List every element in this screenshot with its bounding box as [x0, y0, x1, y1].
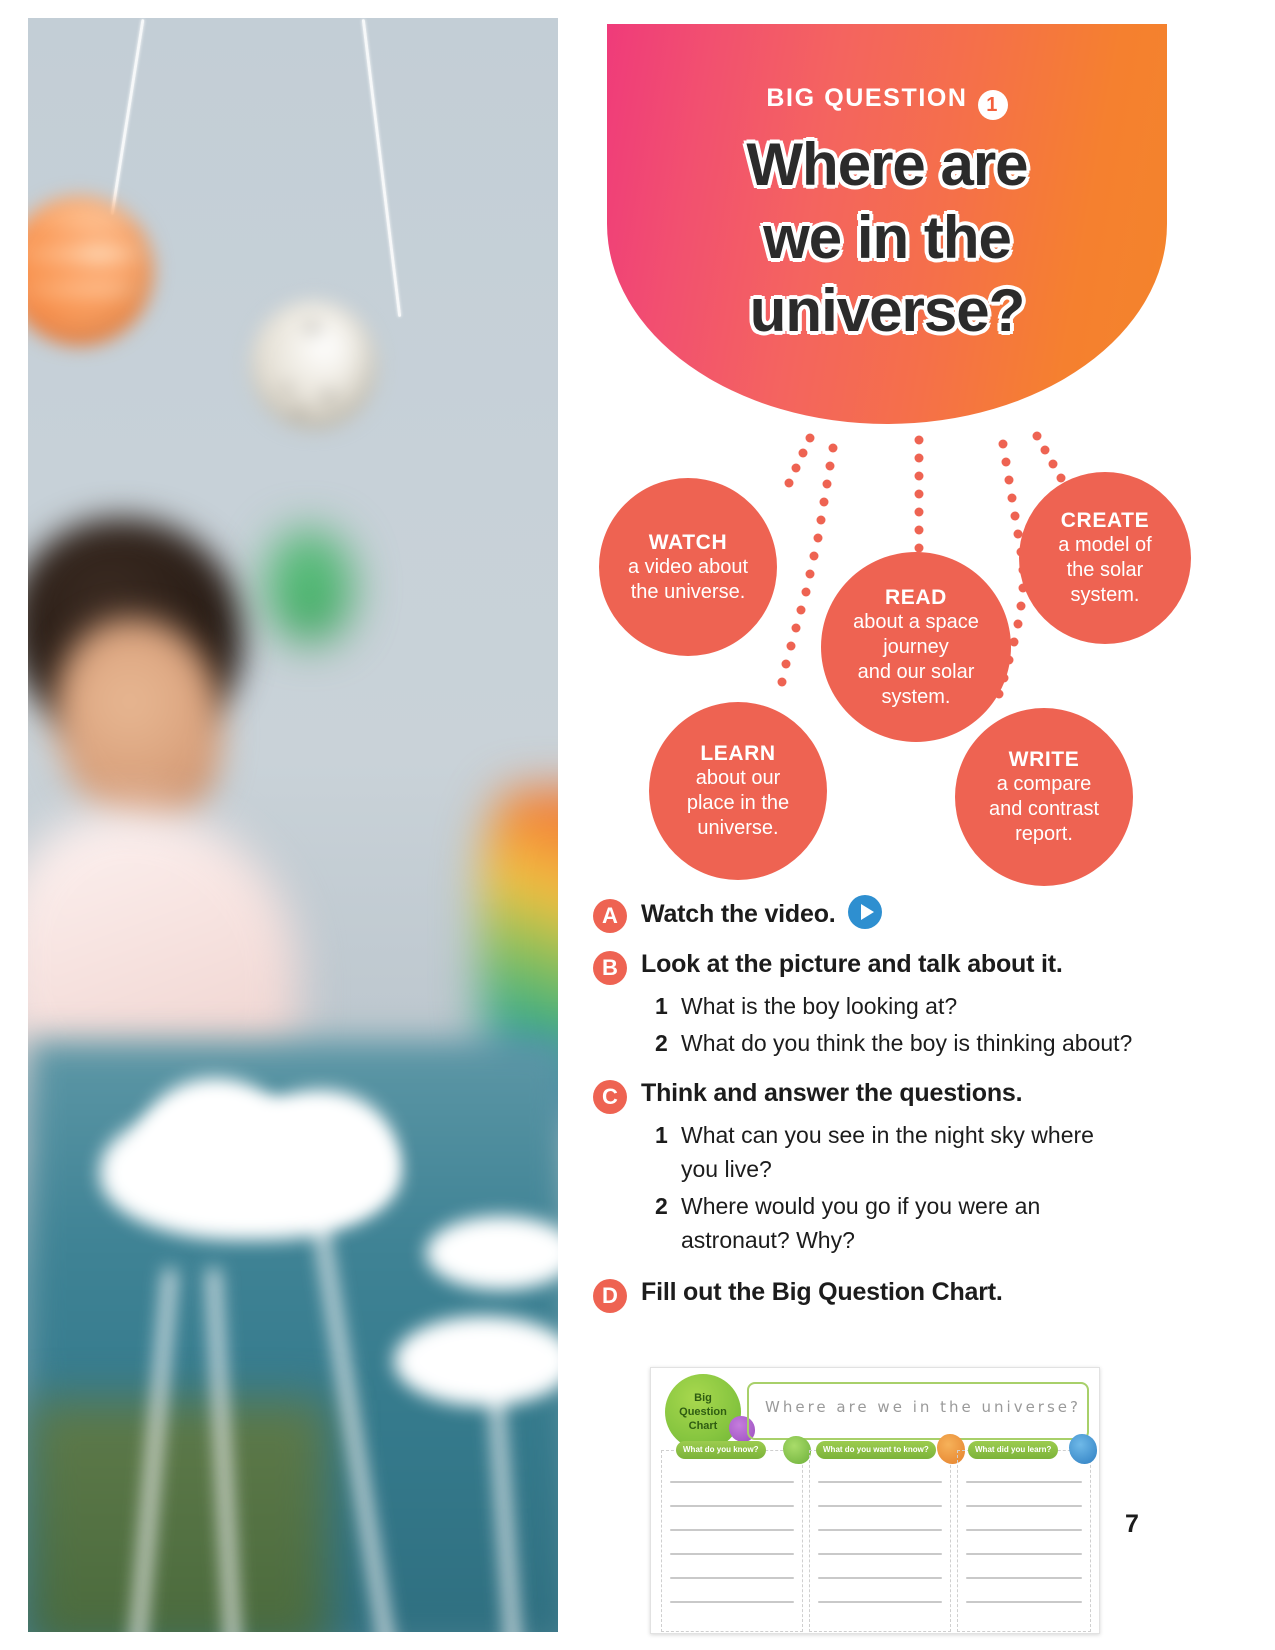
play-icon[interactable] [848, 895, 882, 929]
wall-decoration [266, 530, 352, 642]
question-text: What can you see in the night sky where … [681, 1118, 1136, 1186]
activity-list: A Watch the video. B Look at the picture… [593, 895, 1193, 1317]
unit-bubble-verb: WATCH [649, 530, 727, 555]
activity-d: D Fill out the Big Question Chart. [593, 1275, 1193, 1313]
activity-badge-d: D [593, 1279, 627, 1313]
unit-bubble-write: WRITE a compare and contrast report. [955, 708, 1133, 886]
page-title-line-2: we in the [607, 201, 1167, 274]
unit-bubble-verb: WRITE [1009, 747, 1080, 772]
activity-d-heading: Fill out the Big Question Chart. [641, 1275, 1193, 1309]
big-question-eyebrow-text: BIG QUESTION [766, 84, 967, 112]
moon-model [250, 300, 378, 430]
activity-badge-a: A [593, 899, 627, 933]
page-title-line-1: Where are [607, 128, 1167, 201]
unit-bubble-text: a compare and contrast report. [989, 772, 1099, 847]
unit-bubble-learn: LEARN about our place in the universe. [649, 702, 827, 880]
blue-monster-icon [1069, 1434, 1097, 1464]
activity-b: B Look at the picture and talk about it. [593, 947, 1193, 985]
activity-b-questions: 1 What is the boy looking at? 2 What do … [655, 989, 1193, 1060]
unit-bubble-read: READ about a space journey and our solar… [821, 552, 1011, 742]
unit-bubble-verb: LEARN [700, 741, 775, 766]
question-number: 1 [655, 1118, 681, 1186]
list-item: 2 Where would you go if you were an astr… [655, 1189, 1193, 1257]
lesson-photo [28, 18, 558, 1632]
green-monster-icon [783, 1436, 811, 1464]
list-item: 1 What is the boy looking at? [655, 989, 1193, 1023]
big-question-chart-question-box[interactable]: Where are we in the universe? [747, 1382, 1089, 1440]
activity-b-heading: Look at the picture and talk about it. [641, 947, 1193, 981]
big-question-chart-logo-text: Big Question Chart [679, 1391, 727, 1433]
activity-badge-b: B [593, 951, 627, 985]
big-question-hero: BIG QUESTION1 Where are we in the univer… [607, 24, 1167, 424]
big-question-chart-logo: Big Question Chart [665, 1374, 741, 1450]
activity-a-heading-text: Watch the video. [641, 900, 836, 928]
activity-badge-c: C [593, 1080, 627, 1114]
question-number: 2 [655, 1189, 681, 1257]
chart-column-learn: What did you learn? [957, 1450, 1091, 1632]
unit-bubble-text: about our place in the universe. [687, 766, 789, 841]
activity-d-heading-bold: Big Question Chart. [772, 1278, 1003, 1306]
activity-c: C Think and answer the questions. [593, 1076, 1193, 1114]
page-number: 7 [1125, 1510, 1139, 1539]
activity-c-heading: Think and answer the questions. [641, 1076, 1193, 1110]
big-question-number-badge: 1 [978, 90, 1008, 120]
list-item: 1 What can you see in the night sky wher… [655, 1118, 1193, 1186]
question-number: 1 [655, 989, 681, 1023]
lesson-content: BIG QUESTION1 Where are we in the univer… [585, 0, 1225, 1650]
unit-bubble-verb: READ [885, 585, 947, 610]
question-text: Where would you go if you were an astron… [681, 1189, 1081, 1257]
unit-bubble-text: about a space journey and our solar syst… [853, 610, 979, 710]
chart-column-label: What did you learn? [968, 1441, 1058, 1459]
grass-area [28, 1400, 328, 1632]
chart-column-label: What do you want to know? [816, 1441, 936, 1459]
question-text: What do you think the boy is thinking ab… [681, 1026, 1132, 1060]
activity-a-heading: Watch the video. [641, 895, 882, 931]
page-title-line-3: universe? [607, 274, 1167, 347]
chart-column-know: What do you know? [661, 1450, 803, 1632]
page-title: Where are we in the universe? [607, 128, 1167, 347]
cloud-cutout [246, 1090, 396, 1218]
unit-bubble-text: a video about the universe. [628, 555, 748, 605]
question-text: What is the boy looking at? [681, 989, 957, 1023]
chart-column-label: What do you know? [676, 1441, 766, 1459]
big-question-chart-question-text: Where are we in the universe? [765, 1398, 1081, 1416]
unit-bubble-text: a model of the solar system. [1058, 533, 1151, 608]
list-item: 2 What do you think the boy is thinking … [655, 1026, 1193, 1060]
unit-bubble-verb: CREATE [1061, 508, 1149, 533]
question-number: 2 [655, 1026, 681, 1060]
big-question-chart-thumbnail[interactable]: Big Question Chart Where are we in the u… [650, 1367, 1100, 1634]
big-question-eyebrow: BIG QUESTION1 [607, 84, 1167, 120]
chart-column-want-to-know: What do you want to know? [809, 1450, 951, 1632]
activity-a: A Watch the video. [593, 895, 1193, 933]
unit-bubble-create: CREATE a model of the solar system. [1019, 472, 1191, 644]
unit-bubble-watch: WATCH a video about the universe. [599, 478, 777, 656]
activity-d-heading-plain: Fill out the [641, 1278, 772, 1306]
activity-c-questions: 1 What can you see in the night sky wher… [655, 1118, 1193, 1257]
